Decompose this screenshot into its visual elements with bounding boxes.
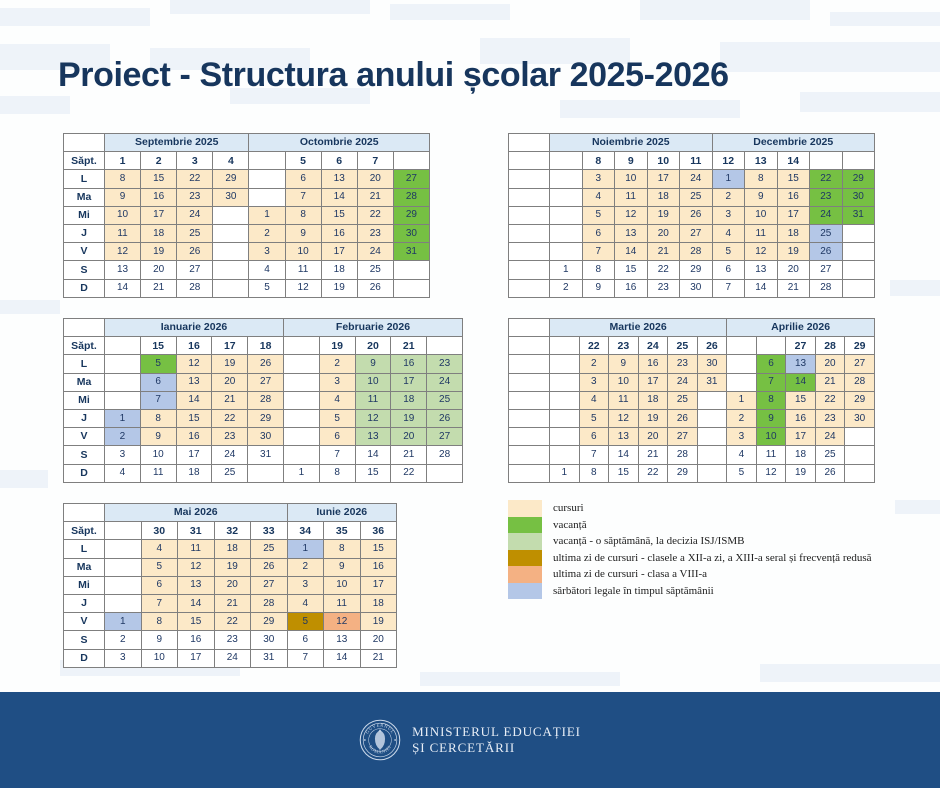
day-label: L — [64, 540, 105, 558]
calendar-day-cell: 13 — [321, 170, 357, 188]
calendar-day-cell: 16 — [141, 188, 177, 206]
calendar-day-cell: 8 — [582, 261, 615, 279]
calendar-day-cell: 11 — [609, 391, 639, 409]
calendar-day-cell: 1 — [550, 464, 580, 482]
calendar-day-cell: 30 — [393, 224, 429, 242]
month-header-row: Septembrie 2025Octombrie 2025 — [64, 134, 430, 152]
calendar-day-cell: 17 — [176, 446, 212, 464]
calendar-day-cell — [550, 206, 583, 224]
week-number: 9 — [615, 152, 648, 170]
calendar-day-cell: 25 — [815, 446, 845, 464]
calendar-day-cell: 13 — [105, 261, 141, 279]
calendar-day-cell: 15 — [355, 464, 391, 482]
week-number-row: Săpt.1234567 — [64, 152, 430, 170]
month-title: Martie 2026 — [550, 319, 727, 337]
calendar-day-cell: 24 — [680, 170, 713, 188]
calendar-day-cell: 13 — [745, 261, 778, 279]
calendar-day-cell: 7 — [285, 188, 321, 206]
calendar-day-cell: 9 — [609, 355, 639, 373]
calendar-day-cell: 4 — [287, 594, 324, 612]
calendar-row: 3101724317142128 — [509, 373, 875, 391]
calendar-day-cell: 26 — [680, 206, 713, 224]
calendar-day-cell: 9 — [756, 409, 786, 427]
calendar-day-cell — [727, 355, 757, 373]
calendar-day-cell: 20 — [357, 170, 393, 188]
calendar-day-cell: 13 — [615, 224, 648, 242]
calendar-day-cell: 26 — [427, 409, 463, 427]
legend-label: cursuri — [553, 502, 584, 514]
legend-swatch-cursuri — [508, 500, 542, 517]
legend-item: vacanță — [508, 517, 872, 534]
calendar-day-cell — [393, 279, 429, 297]
calendar-day-cell — [283, 391, 319, 409]
calendar-day-cell — [427, 464, 463, 482]
calendar-day-cell: 5 — [319, 409, 355, 427]
calendar-day-cell: 11 — [285, 261, 321, 279]
week-number — [283, 337, 319, 355]
calendar-day-cell: 9 — [140, 428, 176, 446]
day-label — [509, 279, 550, 297]
calendar-day-cell — [249, 170, 285, 188]
calendar-day-cell: 18 — [214, 540, 251, 558]
calendar-row: J11182529162330 — [64, 224, 430, 242]
calendar-row: 291623307142128 — [509, 279, 875, 297]
corner-cell — [64, 319, 105, 337]
month-title: Septembrie 2025 — [105, 134, 249, 152]
week-row-label: Săpt. — [64, 152, 105, 170]
calendar-day-cell: 24 — [668, 373, 698, 391]
day-label: Mi — [64, 206, 105, 224]
week-number: 28 — [815, 337, 845, 355]
calendar-day-cell: 7 — [140, 391, 176, 409]
calendar-day-cell: 27 — [680, 224, 713, 242]
calendar-day-cell: 4 — [319, 391, 355, 409]
calendar-day-cell: 10 — [609, 373, 639, 391]
calendar-day-cell: 28 — [810, 279, 843, 297]
calendar-day-cell: 6 — [140, 373, 176, 391]
calendar-day-cell: 22 — [177, 170, 213, 188]
calendar-day-cell: 8 — [324, 540, 361, 558]
day-label: L — [64, 355, 105, 373]
calendar-day-cell: 11 — [105, 224, 141, 242]
week-number: 31 — [178, 522, 215, 540]
calendar-day-cell: 24 — [810, 206, 843, 224]
calendar-day-cell: 3 — [287, 576, 324, 594]
calendar-day-cell: 20 — [212, 373, 248, 391]
calendar-day-cell: 11 — [615, 188, 648, 206]
week-number: 18 — [248, 337, 284, 355]
calendar-day-cell: 7 — [287, 649, 324, 667]
day-label — [509, 428, 550, 446]
calendar-day-cell: 24 — [212, 446, 248, 464]
calendar-day-cell: 1 — [105, 613, 142, 631]
legend-swatch-vacanta-o-saptamana — [508, 533, 542, 550]
calendar-day-cell: 5 — [140, 355, 176, 373]
calendar-row: J714212841118 — [64, 594, 397, 612]
calendar-day-cell — [697, 446, 727, 464]
week-number: 3 — [177, 152, 213, 170]
day-label: S — [64, 261, 105, 279]
calendar-day-cell: 16 — [178, 631, 215, 649]
week-number-row: 2223242526272829 — [509, 337, 875, 355]
calendar-row: L5121926291623 — [64, 355, 463, 373]
calendar-day-cell: 12 — [745, 243, 778, 261]
calendar-day-cell: 16 — [176, 428, 212, 446]
calendar-day-cell: 2 — [319, 355, 355, 373]
calendar-day-cell: 12 — [324, 613, 361, 631]
day-label: J — [64, 409, 105, 427]
calendar-day-cell: 25 — [668, 391, 698, 409]
calendar-day-cell: 16 — [360, 558, 397, 576]
week-number: 20 — [355, 337, 391, 355]
calendar-day-cell: 15 — [178, 613, 215, 631]
calendar-day-cell: 2 — [712, 188, 745, 206]
calendar-day-cell: 14 — [609, 446, 639, 464]
calendar-day-cell: 21 — [141, 279, 177, 297]
calendar-day-cell — [697, 428, 727, 446]
calendar-day-cell: 10 — [355, 373, 391, 391]
calendar-day-cell: 23 — [668, 355, 698, 373]
calendar-day-cell: 6 — [287, 631, 324, 649]
calendar-day-cell: 5 — [579, 409, 609, 427]
week-number: 11 — [680, 152, 713, 170]
calendar-row: S2916233061320 — [64, 631, 397, 649]
calendar-day-cell: 31 — [697, 373, 727, 391]
calendar-day-cell — [283, 428, 319, 446]
month-header-row: Ianuarie 2026Februarie 2026 — [64, 319, 463, 337]
week-number — [756, 337, 786, 355]
calendar-day-cell: 23 — [177, 188, 213, 206]
calendar-day-cell: 23 — [810, 188, 843, 206]
calendar-day-cell: 1 — [283, 464, 319, 482]
calendar-row: L81522296132027 — [64, 170, 430, 188]
calendar-row: 61320274111825 — [509, 224, 875, 242]
calendar-day-cell: 19 — [647, 206, 680, 224]
day-label — [509, 261, 550, 279]
day-label — [509, 373, 550, 391]
calendar-day-cell: 28 — [427, 446, 463, 464]
week-number-row: Săpt.30313233343536 — [64, 522, 397, 540]
calendar-day-cell: 5 — [141, 558, 178, 576]
day-label — [509, 446, 550, 464]
calendar-day-cell: 18 — [786, 446, 816, 464]
week-number: 16 — [176, 337, 212, 355]
week-number — [842, 152, 875, 170]
calendar-day-cell: 2 — [287, 558, 324, 576]
calendar-day-cell: 20 — [647, 224, 680, 242]
calendar-day-cell: 13 — [176, 373, 212, 391]
day-label: J — [64, 594, 105, 612]
calendar-day-cell: 20 — [638, 428, 668, 446]
calendar-day-cell: 22 — [357, 206, 393, 224]
calendar-day-cell: 15 — [360, 540, 397, 558]
calendar-day-cell: 11 — [140, 464, 176, 482]
calendar-day-cell: 20 — [214, 576, 251, 594]
calendar-day-cell: 2 — [249, 224, 285, 242]
week-number — [105, 522, 142, 540]
week-number: 36 — [360, 522, 397, 540]
calendar-row: D4111825181522 — [64, 464, 463, 482]
corner-cell — [64, 504, 105, 522]
calendar-day-cell: 14 — [321, 188, 357, 206]
calendar-day-cell: 25 — [357, 261, 393, 279]
calendar-day-cell: 9 — [355, 355, 391, 373]
week-number: 10 — [647, 152, 680, 170]
calendar-day-cell: 31 — [251, 649, 288, 667]
calendar-day-cell: 4 — [582, 188, 615, 206]
corner-cell — [509, 319, 550, 337]
calendar-day-cell: 20 — [360, 631, 397, 649]
day-label: V — [64, 428, 105, 446]
day-label: D — [64, 279, 105, 297]
calendar-day-cell — [697, 409, 727, 427]
calendar-row: Mi71421284111825 — [64, 391, 463, 409]
day-label: Mi — [64, 576, 105, 594]
calendar-day-cell: 7 — [712, 279, 745, 297]
calendar-day-cell: 15 — [786, 391, 816, 409]
calendar-day-cell — [248, 464, 284, 482]
calendar-day-cell: 24 — [177, 206, 213, 224]
week-number: 5 — [285, 152, 321, 170]
week-number — [550, 337, 580, 355]
day-label — [509, 170, 550, 188]
week-number: 26 — [697, 337, 727, 355]
calendar-day-cell: 17 — [360, 576, 397, 594]
calendar-day-cell: 18 — [176, 464, 212, 482]
week-number — [810, 152, 843, 170]
calendar-day-cell: 23 — [212, 428, 248, 446]
calendar-day-cell: 16 — [391, 355, 427, 373]
calendar-day-cell: 27 — [177, 261, 213, 279]
calendar-day-cell: 25 — [427, 391, 463, 409]
calendar-day-cell: 1 — [287, 540, 324, 558]
calendar-day-cell — [105, 373, 141, 391]
calendar-day-cell: 23 — [214, 631, 251, 649]
calendar-day-cell — [697, 391, 727, 409]
calendar-day-cell: 14 — [178, 594, 215, 612]
calendar-day-cell: 6 — [579, 428, 609, 446]
week-number: 13 — [745, 152, 778, 170]
calendar-day-cell: 3 — [105, 446, 141, 464]
month-title: Decembrie 2025 — [712, 134, 875, 152]
week-number: 32 — [214, 522, 251, 540]
calendar-day-cell: 19 — [777, 243, 810, 261]
calendar-day-cell: 28 — [845, 373, 875, 391]
week-number: 30 — [141, 522, 178, 540]
calendar-day-cell: 27 — [251, 576, 288, 594]
calendar-day-cell — [842, 279, 875, 297]
calendar-day-cell: 1 — [727, 391, 757, 409]
calendar-day-cell: 22 — [391, 464, 427, 482]
calendar-day-cell: 31 — [248, 446, 284, 464]
calendar-day-cell: 22 — [212, 409, 248, 427]
calendar-day-cell — [105, 594, 142, 612]
calendar-day-cell: 19 — [141, 243, 177, 261]
calendar-day-cell — [283, 446, 319, 464]
calendar-day-cell: 7 — [582, 243, 615, 261]
calendar-day-cell: 10 — [756, 428, 786, 446]
legend-item: vacanță - o săptămână, la decizia ISJ/IS… — [508, 533, 872, 550]
calendar-day-cell: 9 — [105, 188, 141, 206]
calendar-day-cell: 12 — [756, 464, 786, 482]
calendar-day-cell: 31 — [842, 206, 875, 224]
corner-cell — [64, 134, 105, 152]
calendar-row: L41118251815 — [64, 540, 397, 558]
month-header-row: Martie 2026Aprilie 2026 — [509, 319, 875, 337]
calendar-day-cell: 15 — [141, 170, 177, 188]
week-number: 12 — [712, 152, 745, 170]
calendar-day-cell: 28 — [680, 243, 713, 261]
calendar-day-cell: 17 — [391, 373, 427, 391]
calendar-day-cell: 3 — [582, 170, 615, 188]
calendar-day-cell: 30 — [248, 428, 284, 446]
calendar-day-cell: 5 — [287, 613, 324, 631]
day-label: D — [64, 649, 105, 667]
week-number: 17 — [212, 337, 248, 355]
calendar-day-cell: 3 — [727, 428, 757, 446]
calendar-day-cell: 30 — [697, 355, 727, 373]
calendar-day-cell: 10 — [324, 576, 361, 594]
calendar-day-cell: 4 — [579, 391, 609, 409]
calendar-day-cell: 11 — [355, 391, 391, 409]
calendar-row: V121926310172431 — [64, 243, 430, 261]
week-number: 25 — [668, 337, 698, 355]
calendar-day-cell: 27 — [810, 261, 843, 279]
calendar-day-cell — [550, 428, 580, 446]
calendar-day-cell: 20 — [391, 428, 427, 446]
calendar-day-cell: 14 — [324, 649, 361, 667]
legend-swatch-ultima-zi-xii — [508, 550, 542, 567]
calendar-day-cell: 19 — [212, 355, 248, 373]
calendar-day-cell — [550, 170, 583, 188]
calendar-day-cell: 8 — [141, 613, 178, 631]
calendar-day-cell: 17 — [647, 170, 680, 188]
calendar-day-cell: 15 — [615, 261, 648, 279]
calendar-row: 411182529162330 — [509, 188, 875, 206]
day-label — [509, 243, 550, 261]
day-label: Ma — [64, 188, 105, 206]
calendar-row: S1320274111825 — [64, 261, 430, 279]
calendar-day-cell: 22 — [214, 613, 251, 631]
calendar-day-cell: 20 — [777, 261, 810, 279]
calendar-day-cell: 12 — [609, 409, 639, 427]
day-label — [509, 206, 550, 224]
calendar-day-cell: 9 — [141, 631, 178, 649]
calendar-day-cell: 6 — [319, 428, 355, 446]
calendar-day-cell: 24 — [815, 428, 845, 446]
calendar-day-cell: 27 — [427, 428, 463, 446]
calendar-day-cell — [213, 206, 249, 224]
calendar-day-cell — [842, 243, 875, 261]
calendar-day-cell: 1 — [105, 409, 141, 427]
week-number: 34 — [287, 522, 324, 540]
calendar-day-cell: 12 — [105, 243, 141, 261]
day-label: S — [64, 631, 105, 649]
calendar-row: 310172418152229 — [509, 170, 875, 188]
calendar-day-cell: 17 — [178, 649, 215, 667]
calendar-day-cell: 27 — [248, 373, 284, 391]
week-number — [727, 337, 757, 355]
ministry-line-2: ȘI CERCETĂRII — [412, 740, 581, 756]
calendar-day-cell — [105, 355, 141, 373]
calendar-day-cell: 29 — [845, 391, 875, 409]
calendar-day-cell: 4 — [141, 540, 178, 558]
calendar-day-cell: 29 — [668, 464, 698, 482]
calendar-day-cell: 6 — [712, 261, 745, 279]
day-label: S — [64, 446, 105, 464]
calendar-day-cell: 2 — [579, 355, 609, 373]
calendar-day-cell: 9 — [285, 224, 321, 242]
calendar-day-cell: 29 — [393, 206, 429, 224]
calendar-day-cell — [283, 409, 319, 427]
calendar-table-noi-dec: Noiembrie 2025Decembrie 2025891011121314… — [508, 133, 875, 298]
calendar-day-cell: 4 — [105, 464, 141, 482]
calendar-day-cell: 16 — [777, 188, 810, 206]
calendar-day-cell: 31 — [393, 243, 429, 261]
calendar-day-cell: 26 — [177, 243, 213, 261]
calendar-row: Ma91623307142128 — [64, 188, 430, 206]
calendar-day-cell: 25 — [251, 540, 288, 558]
month-title: Noiembrie 2025 — [550, 134, 713, 152]
calendar-row: V1815222951219 — [64, 613, 397, 631]
calendar-day-cell — [213, 279, 249, 297]
calendar-day-cell: 16 — [321, 224, 357, 242]
calendar-day-cell: 25 — [177, 224, 213, 242]
calendar-day-cell: 27 — [668, 428, 698, 446]
calendar-day-cell: 14 — [176, 391, 212, 409]
calendar-row: Ma51219262916 — [64, 558, 397, 576]
calendar-day-cell: 29 — [213, 170, 249, 188]
calendar-day-cell: 9 — [324, 558, 361, 576]
ministry-name: MINISTERUL EDUCAȚIEI ȘI CERCETĂRII — [412, 724, 581, 756]
corner-cell — [509, 134, 550, 152]
calendar-day-cell: 28 — [251, 594, 288, 612]
calendar-day-cell: 5 — [727, 464, 757, 482]
calendar-day-cell: 16 — [786, 409, 816, 427]
legend-swatch-sarbatori-legale — [508, 583, 542, 600]
calendar-day-cell: 30 — [251, 631, 288, 649]
calendar-day-cell: 12 — [615, 206, 648, 224]
calendar-day-cell: 24 — [427, 373, 463, 391]
calendar-day-cell: 7 — [579, 446, 609, 464]
calendar-day-cell — [727, 373, 757, 391]
calendar-day-cell: 30 — [845, 409, 875, 427]
calendar-table-ian-feb: Ianuarie 2026Februarie 2026Săpt.15161718… — [63, 318, 463, 483]
week-number: 2 — [141, 152, 177, 170]
calendar-day-cell: 19 — [214, 558, 251, 576]
calendar-day-cell: 14 — [786, 373, 816, 391]
calendar-day-cell: 8 — [319, 464, 355, 482]
calendar-day-cell: 26 — [248, 355, 284, 373]
calendar-day-cell: 26 — [668, 409, 698, 427]
calendar-day-cell: 18 — [321, 261, 357, 279]
calendar-day-cell: 6 — [141, 576, 178, 594]
calendar-day-cell: 2 — [105, 631, 142, 649]
legend-label: vacanță — [553, 519, 587, 531]
calendar-day-cell: 4 — [727, 446, 757, 464]
calendar-day-cell: 21 — [360, 649, 397, 667]
calendar-day-cell: 17 — [777, 206, 810, 224]
calendar-day-cell — [249, 188, 285, 206]
calendar-day-cell: 14 — [355, 446, 391, 464]
calendar-day-cell: 12 — [285, 279, 321, 297]
month-header-row: Noiembrie 2025Decembrie 2025 — [509, 134, 875, 152]
legend-item: ultima zi de cursuri - clasa a VIII-a — [508, 566, 872, 583]
calendar-day-cell: 5 — [249, 279, 285, 297]
calendar-day-cell: 21 — [638, 446, 668, 464]
calendar-row: 411182518152229 — [509, 391, 875, 409]
month-title: Aprilie 2026 — [727, 319, 875, 337]
